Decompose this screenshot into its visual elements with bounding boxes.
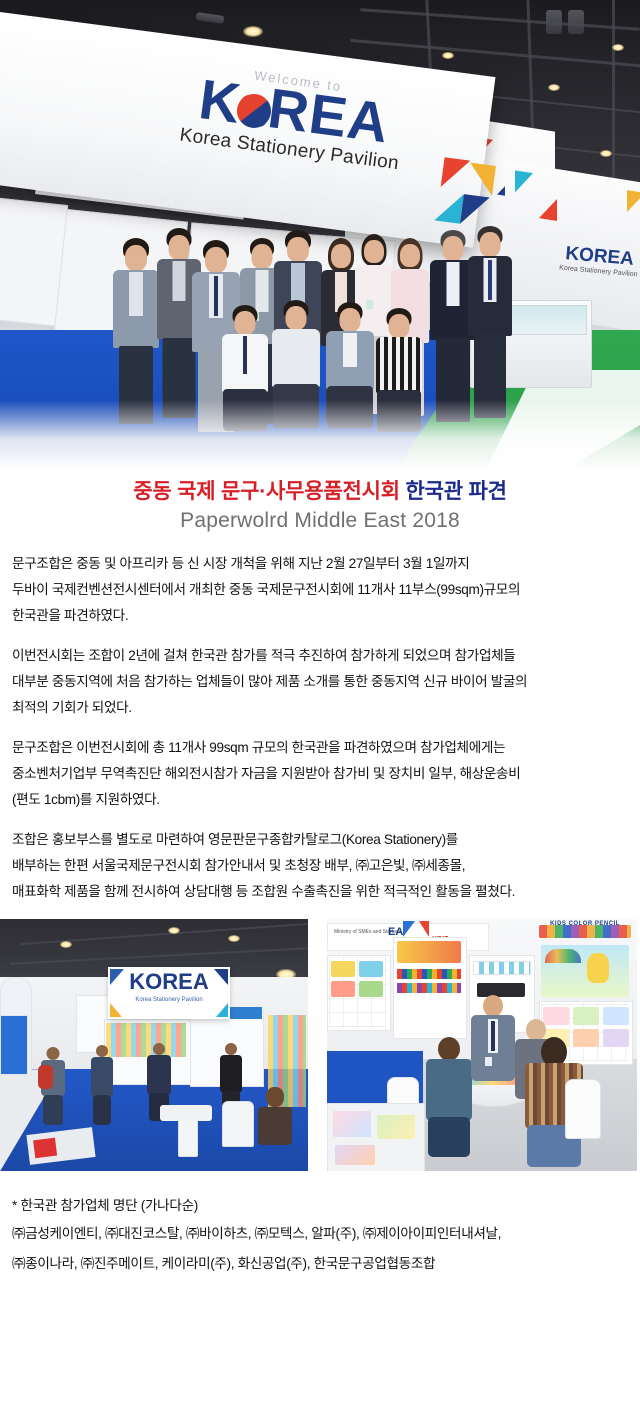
chair [222,1101,254,1147]
deco-triangle [214,969,228,985]
shirt [447,262,460,306]
striped-shirt [376,337,422,393]
head [364,240,384,263]
page-subtitle: Paperwolrd Middle East 2018 [0,509,640,533]
suit [220,1055,242,1093]
photo-bottom-fade [0,400,640,470]
poster [359,961,383,977]
person-back-10 [466,226,514,422]
head [125,245,147,271]
page-title: 중동 국제 문구·사무용품전시회 한국관 파견 [0,478,640,506]
visitor-with-backpack [38,1047,68,1123]
head [340,308,361,332]
brochure [335,1145,375,1165]
title-red-part: 중동 국제 문구·사무용품전시회 [133,480,400,503]
poster [573,1007,599,1025]
seated-visitor [256,1087,294,1145]
article-page: KOREA Korea Stationery Pavilion Buyheart… [0,0,640,1404]
staff-standing [469,995,517,1111]
shirt [272,329,320,387]
booth-overview-photo: KOREA Korea Stationery Pavilion [0,919,308,1171]
head [47,1047,60,1060]
head [252,244,273,269]
deco-triangle [110,969,124,985]
marker-row [397,969,461,979]
name-badge [485,1057,492,1066]
body-line: 조합은 홍보부스를 별도로 마련하여 영문판문구종합카탈로그(Korea Sta… [12,827,628,853]
participant-list-heading: * 한국관 참가업체 명단 (가나다순) [12,1193,628,1219]
head [389,314,410,338]
visitor-suit-1 [88,1045,116,1123]
head [153,1043,165,1055]
mascot [587,953,609,983]
deco-triangle [419,921,429,937]
suit [91,1057,113,1097]
head [286,306,307,330]
poster [603,1029,629,1047]
body-line: 문구조합은 이번전시회에 총 11개사 99sqm 규모의 한국관을 파견하였으… [12,735,628,761]
head [443,236,464,261]
paragraph-4: 조합은 홍보부스를 별도로 마련하여 영문판문구종합카탈로그(Korea Sta… [12,827,628,905]
head [169,235,190,260]
head [480,232,501,257]
head [287,237,309,262]
rainbow [545,949,581,963]
kids-poster [541,945,629,997]
body-line: 한국관을 파견하였다. [12,603,628,629]
shirt [173,261,186,301]
deco-triangle [403,921,415,937]
buyer-left [423,1037,475,1157]
poster [331,981,355,997]
banner-graphic [33,1138,57,1159]
poster [331,961,355,977]
poster-title: KIDS COLOR PENCIL [539,921,631,930]
table-leg [178,1115,198,1157]
title-block: 중동 국제 문구·사무용품전시회 한국관 파견 Paperwolrd Middl… [0,470,640,533]
head [235,311,256,335]
marker-row [397,983,461,993]
product-poster [397,941,461,963]
suit [147,1055,171,1095]
necktie [488,260,492,300]
torso [258,1107,292,1145]
body-line: 이번전시회는 조합이 2년에 걸쳐 한국관 참가를 적극 추진하여 참가하게 되… [12,643,628,669]
article-body: 문구조합은 중동 및 아프리카 등 신 시장 개척을 위해 지난 2월 27일부… [0,533,640,905]
photo-pair: KOREA Korea Stationery Pavilion [0,919,640,1171]
necktie [491,1021,495,1051]
hero-scene: KOREA Korea Stationery Pavilion Buyheart… [0,0,640,470]
deco-triangle [216,1003,228,1017]
participant-line: ㈜종이나라, ㈜진주메이트, 케이라미(주), 화신공업(주), 한국문구공업협… [12,1249,628,1279]
body-line: 매표화학 제품을 함께 전시하여 상담대행 등 조합원 수출촉진을 위한 적극적… [12,879,628,905]
participant-line: ㈜금성케이엔티, ㈜대진코스탈, ㈜바이하츠, ㈜모텍스, 알파(주), ㈜제이… [12,1219,628,1249]
paragraph-3: 문구조합은 이번전시회에 총 11개사 99sqm 규모의 한국관을 파견하였으… [12,735,628,813]
brochure [377,1115,415,1139]
head [266,1087,284,1107]
head [483,995,503,1017]
body-line: 두바이 국제컨벤션전시센터에서 개최한 중동 국제문구전시회에 11개사 11부… [12,577,628,603]
legs [43,1095,63,1125]
paragraph-1: 문구조합은 중동 및 아프리카 등 신 시장 개척을 위해 지난 2월 27일부… [12,551,628,629]
head [205,247,227,273]
deco-triangle [110,1003,122,1017]
buyer-consultation-photo: Ministry of SMEs and Startups KBIZ EA KI… [327,919,637,1171]
korea-booth-banner: KOREA Korea Stationery Pavilion [108,967,230,1019]
head [225,1043,237,1055]
legs [428,1117,470,1157]
body-line: 최적의 기회가 되었다. [12,695,628,721]
brochure [333,1111,371,1137]
body-line: 대부분 중동지역에 처음 참가하는 업체들이 많아 제품 소개를 통한 중동지역… [12,669,628,695]
red-backpack [38,1065,53,1089]
korea-subtitle: Korea Stationery Pavilion [108,997,230,1003]
body-line: 중소벤처기업부 무역촉진단 해외전시참가 자금을 지원받아 참가비 및 장치비 … [12,761,628,787]
poster [359,981,383,997]
head [331,244,351,268]
participant-list: * 한국관 참가업체 명단 (가나다순) ㈜금성케이엔티, ㈜대진코스탈, ㈜바… [0,1171,640,1295]
head [438,1037,460,1061]
bar-table-top [160,1105,212,1121]
paragraph-2: 이번전시회는 조합이 2년에 걸쳐 한국관 참가를 적극 추진하여 참가하게 되… [12,643,628,721]
head [400,244,420,267]
shirt [343,333,357,367]
shirt [129,272,143,316]
legs [93,1095,111,1125]
shirt [426,1059,472,1121]
booth-blue-panel [0,1015,28,1075]
poster [603,1007,629,1025]
body-line: (편도 1cbm)를 지원하였다. [12,787,628,813]
head [96,1045,108,1057]
body-line: 배부하는 한편 서울국제문구전시회 참가안내서 및 초청장 배부, ㈜고은빛, … [12,853,628,879]
body-line: 문구조합은 중동 및 아프리카 등 신 시장 개척을 위해 지난 2월 27일부… [12,551,628,577]
necktie [243,336,247,374]
bottle-row [473,961,531,975]
chair [565,1079,601,1139]
korea-wordmark: KOREA [108,967,230,997]
title-blue-part: 한국관 파견 [406,480,507,503]
hero-photo: KOREA Korea Stationery Pavilion Buyheart… [0,0,640,470]
